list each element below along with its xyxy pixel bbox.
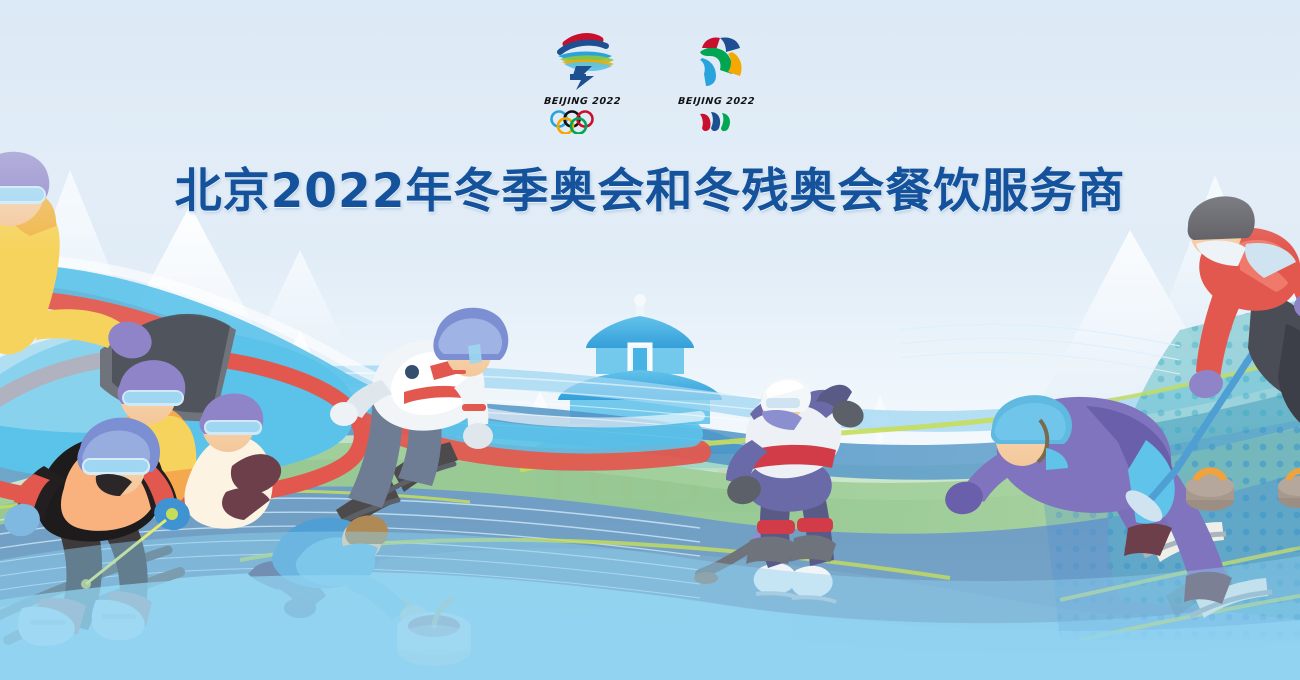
emblem-row: BEIJING 2022 (537, 32, 763, 134)
paralympic-wordmark: BEIJING 2022 (678, 96, 756, 107)
olympic-wordmark: BEIJING 2022 (544, 96, 622, 107)
page-title: 北京2022年冬季奥会和冬残奥会餐饮服务商 (175, 152, 1126, 221)
paralympic-emblem-mark (680, 32, 754, 94)
olympic-rings-icon (548, 110, 618, 134)
banner-header: BEIJING 2022 (0, 0, 1300, 220)
beijing-2022-paralympic-emblem: BEIJING 2022 (671, 32, 763, 134)
olympic-catering-banner: BEIJING 2022 (0, 0, 1300, 680)
olympic-emblem-mark (546, 32, 620, 94)
agitos-icon (682, 110, 752, 134)
beijing-2022-olympic-emblem: BEIJING 2022 (537, 32, 629, 134)
